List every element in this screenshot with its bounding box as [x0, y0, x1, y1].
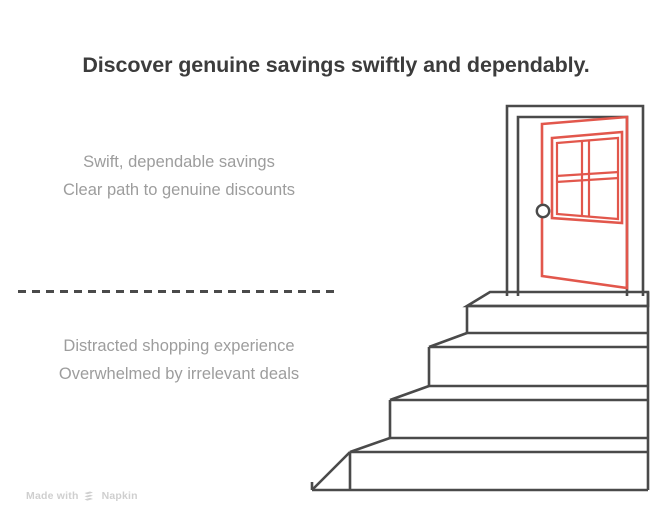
napkin-chevrons-icon	[84, 491, 97, 502]
stair-step-2-tread	[350, 438, 390, 452]
stair-step-1-tread	[312, 452, 350, 490]
staircase-group	[312, 292, 648, 490]
divider-line	[18, 290, 340, 293]
negative-point-1: Distracted shopping experience	[18, 332, 340, 360]
made-with-napkin-watermark: Made with Napkin	[26, 490, 138, 502]
napkin-brand-label: Napkin	[102, 490, 138, 502]
dashed-divider	[18, 290, 340, 296]
stair-step-3-tread	[390, 386, 429, 400]
door-and-stairs-illustration	[300, 90, 672, 500]
positive-point-2: Clear path to genuine discounts	[18, 176, 340, 204]
stair-step-5	[467, 292, 648, 306]
negative-point-2: Overwhelmed by irrelevant deals	[18, 360, 340, 388]
door-group	[507, 106, 643, 296]
stair-step-4-tread	[429, 333, 467, 347]
made-with-label: Made with	[26, 490, 79, 502]
illustration-canvas: Discover genuine savings swiftly and dep…	[0, 0, 672, 528]
positive-points-group: Swift, dependable savings Clear path to …	[18, 148, 340, 204]
window-mullion-horizontal-bottom	[556, 178, 619, 182]
open-door-panel	[542, 117, 627, 288]
page-title: Discover genuine savings swiftly and dep…	[0, 50, 672, 80]
negative-points-group: Distracted shopping experience Overwhelm…	[18, 332, 340, 388]
door-knob-icon	[537, 205, 549, 217]
positive-point-1: Swift, dependable savings	[18, 148, 340, 176]
door-inner-frame	[518, 117, 627, 296]
window-mullion-horizontal-top	[556, 172, 619, 176]
